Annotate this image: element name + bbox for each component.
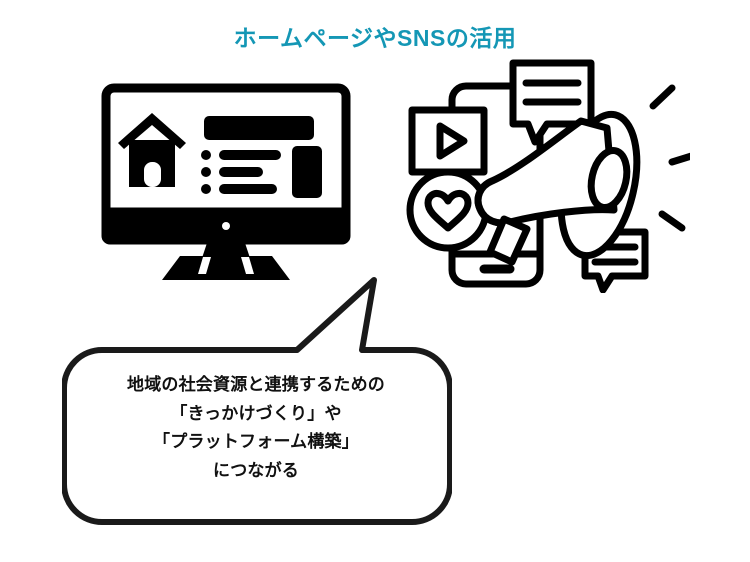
screen-side-panel-icon (292, 146, 322, 198)
sns-megaphone-illustration (400, 58, 690, 293)
desktop-monitor-website-illustration (96, 82, 356, 282)
callout-line-1: 地域の社会資源と連携するための (80, 371, 432, 400)
screen-bulleted-list-icon (201, 150, 281, 194)
callout-line-4: につながる (80, 457, 432, 486)
page-title: ホームページやSNSの活用 (0, 24, 750, 52)
house-icon (118, 113, 186, 187)
callout-text-block: 地域の社会資源と連携するための 「きっかけづくり」や 「プラットフォーム構築」 … (80, 371, 432, 485)
screen-header-bar-icon (204, 116, 314, 140)
callout-line-3: 「プラットフォーム構築」 (80, 428, 432, 457)
slide-canvas: ホームページやSNSの活用 (0, 0, 750, 562)
callout-line-2: 「きっかけづくり」や (80, 400, 432, 429)
sound-rays-icon (653, 88, 690, 228)
monitor-power-led-icon (222, 222, 230, 230)
